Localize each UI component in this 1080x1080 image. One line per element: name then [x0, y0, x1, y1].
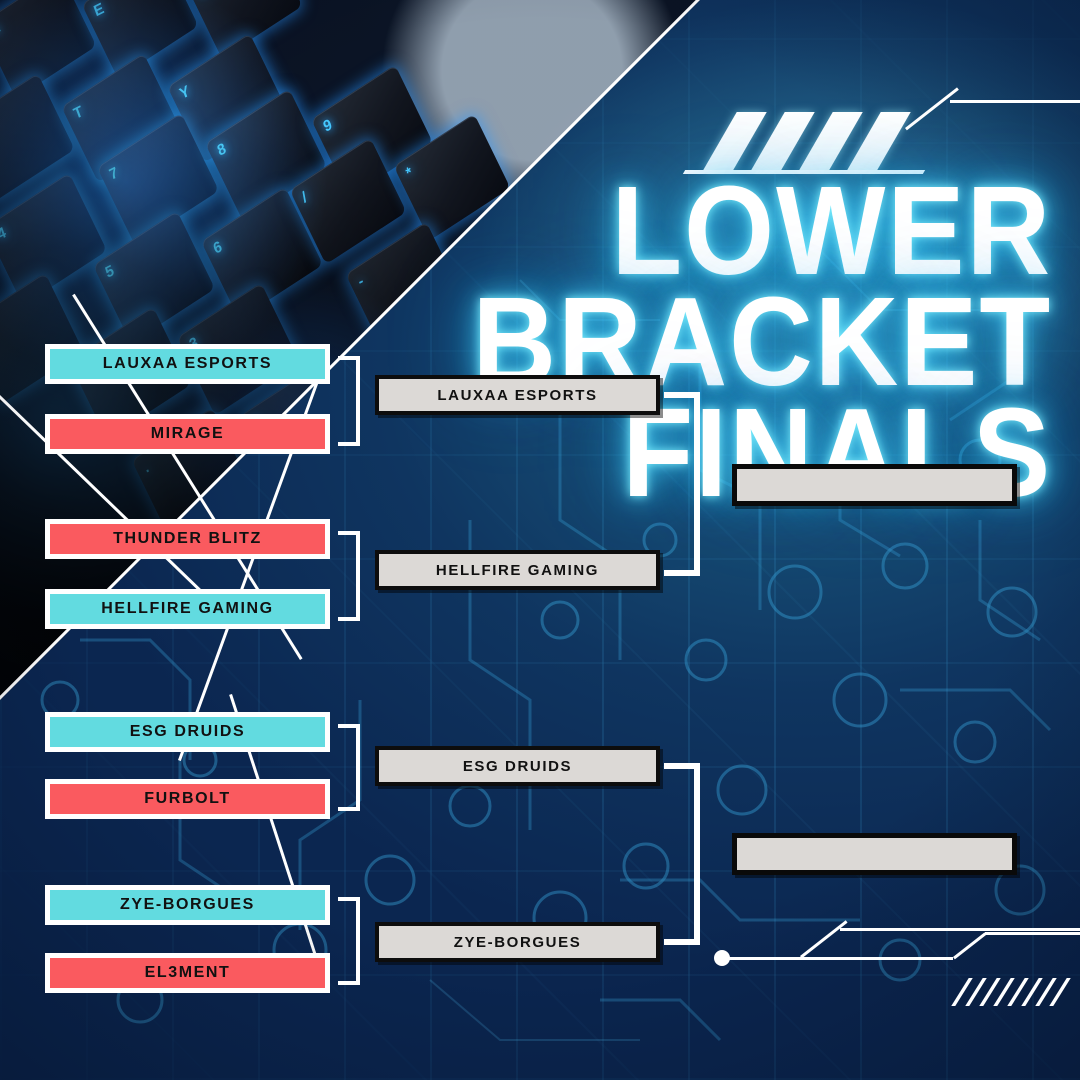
bracket-winner-r2-esg-druids[interactable]: ESG DRUIDS — [375, 746, 660, 786]
bracket-team-zye-borgues[interactable]: ZYE-BORGUES — [45, 885, 330, 925]
bracket-winner-r2-hellfire-gaming[interactable]: HELLFIRE GAMING — [375, 550, 660, 590]
bracket-winner-r2-zye-borgues[interactable]: ZYE-BORGUES — [375, 922, 660, 962]
bracket-team-thunder-blitz[interactable]: THUNDER BLITZ — [45, 519, 330, 559]
team-label: ESG DRUIDS — [463, 758, 572, 775]
bracket-winner-r2-lauxaa-esports[interactable]: LAUXAA ESPORTS — [375, 375, 660, 415]
bracket-team-hellfire-gaming[interactable]: HELLFIRE GAMING — [45, 589, 330, 629]
team-label: ZYE-BORGUES — [454, 934, 582, 951]
team-label: THUNDER BLITZ — [113, 530, 262, 548]
bracket-final-slot-upper[interactable] — [732, 464, 1017, 506]
team-label: MIRAGE — [151, 425, 225, 443]
team-label: ESG DRUIDS — [130, 723, 246, 741]
team-label: EL3MENT — [145, 964, 231, 982]
bracket-team-furbolt[interactable]: FURBOLT — [45, 779, 330, 819]
team-label: LAUXAA ESPORTS — [103, 355, 272, 373]
team-label: LAUXAA ESPORTS — [437, 387, 597, 404]
team-label: HELLFIRE GAMING — [436, 562, 599, 579]
bracket-team-lauxaa-esports[interactable]: LAUXAA ESPORTS — [45, 344, 330, 384]
poster-canvas: = E R E T Y 7 8 9 4 5 6 1 2 3 / * - 0 . — [0, 0, 1080, 1080]
bracket-team-el3ment[interactable]: EL3MENT — [45, 953, 330, 993]
team-label: FURBOLT — [144, 790, 230, 808]
bracket-team-mirage[interactable]: MIRAGE — [45, 414, 330, 454]
bracket-team-esg-druids[interactable]: ESG DRUIDS — [45, 712, 330, 752]
team-label: ZYE-BORGUES — [120, 896, 255, 914]
bracket-final-slot-lower[interactable] — [732, 833, 1017, 875]
team-label: HELLFIRE GAMING — [101, 600, 273, 618]
